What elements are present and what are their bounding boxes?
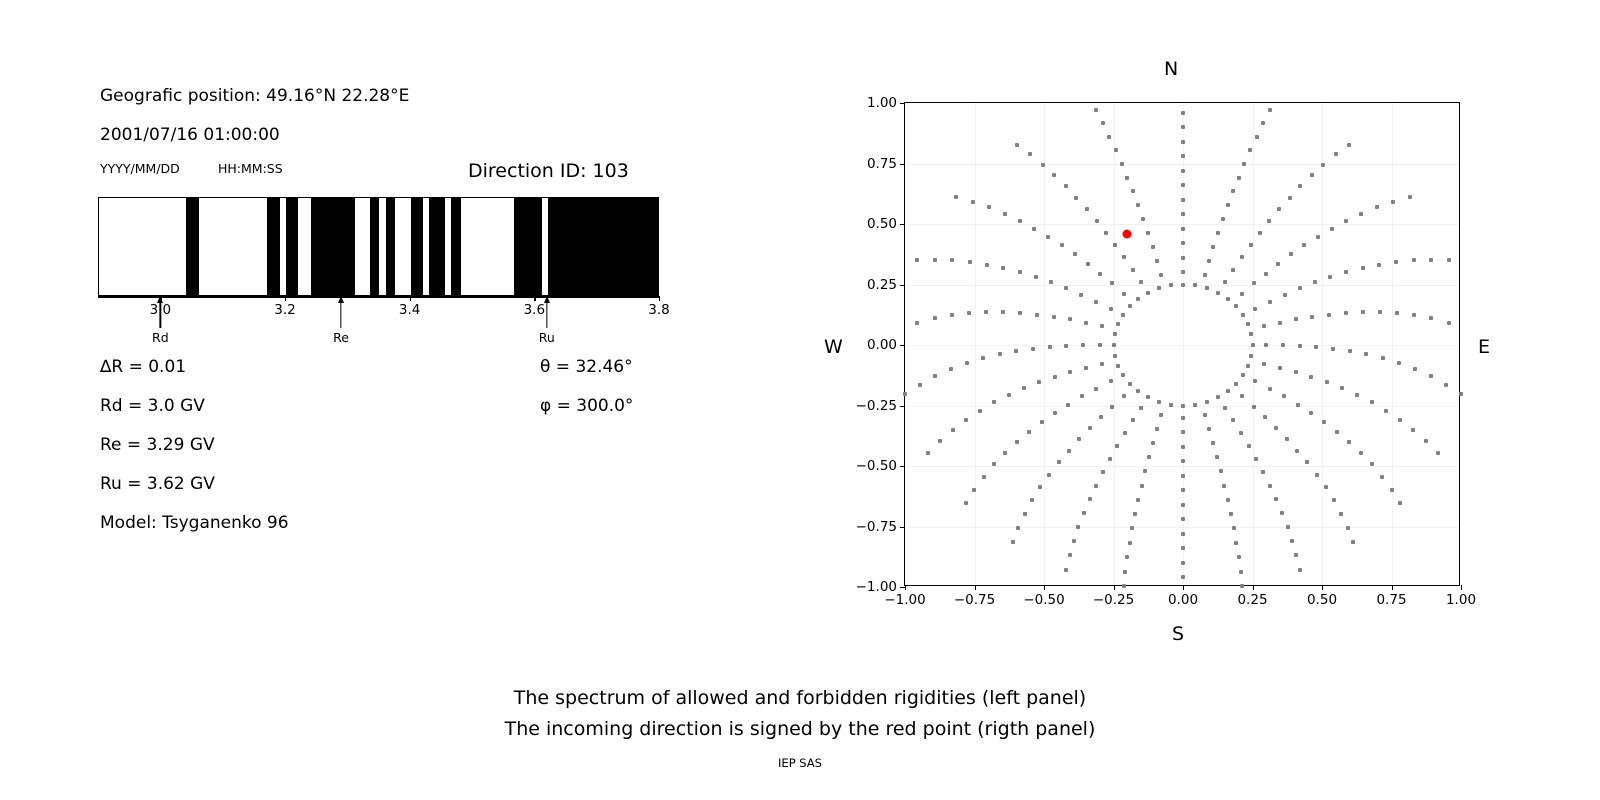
direction-dot (1252, 281, 1256, 285)
direction-dot (1355, 393, 1359, 397)
direction-dot (981, 356, 985, 360)
direction-dot (1181, 430, 1185, 434)
direction-dot (1205, 286, 1209, 290)
direction-dot (918, 383, 922, 387)
direction-dot (1181, 169, 1185, 173)
direction-dot (1261, 121, 1265, 125)
direction-dot (1278, 321, 1282, 325)
direction-dot (1181, 256, 1185, 260)
direction-dot (1216, 395, 1220, 399)
direction-dot (1203, 413, 1207, 417)
direction-dot (978, 409, 982, 413)
polar-x-tick (1461, 585, 1462, 590)
direction-dot (1344, 219, 1348, 223)
direction-dot (1003, 212, 1007, 216)
direction-dot (1261, 470, 1265, 474)
polar-x-tick-label: 0.25 (1237, 592, 1267, 608)
direction-dot (915, 258, 919, 262)
direction-dot (1181, 183, 1185, 187)
direction-dot (1116, 364, 1120, 368)
direction-dot (1412, 258, 1416, 262)
direction-dot (972, 488, 976, 492)
direction-dot (1088, 497, 1092, 501)
direction-dot (1322, 420, 1326, 424)
direction-dot (1226, 498, 1230, 502)
direction-dot (1181, 474, 1185, 478)
geographic-position-label: Geografic position: 49.16°N 22.28°E (100, 86, 409, 106)
polar-x-tick-label: −0.25 (1093, 592, 1134, 608)
direction-dot (1262, 324, 1266, 328)
direction-dot (1169, 403, 1173, 407)
direction-dot (1016, 526, 1020, 530)
direction-dot (1151, 245, 1155, 249)
annotation-arrow-head-icon (338, 296, 344, 303)
direction-dot (1064, 344, 1068, 348)
direction-dot (1128, 382, 1132, 386)
direction-dot (1052, 315, 1056, 319)
direction-dot (1086, 262, 1090, 266)
direction-dot (1120, 162, 1124, 166)
spectrum-x-axis: 3.03.23.43.63.8RdReRu (98, 296, 659, 298)
direction-dot (1123, 431, 1127, 435)
direction-dot (1377, 263, 1381, 267)
direction-dot (1181, 241, 1185, 245)
gridline-horizontal (905, 224, 1459, 225)
direction-dot (1298, 286, 1302, 290)
direction-dot (1104, 231, 1108, 235)
direction-dot (1072, 539, 1076, 543)
direction-dot (1001, 266, 1005, 270)
direction-dot (1046, 235, 1050, 239)
gridline-vertical (1322, 103, 1323, 585)
direction-dot (1253, 379, 1257, 383)
direction-dot (1128, 541, 1132, 545)
direction-dot (1125, 176, 1129, 180)
direction-dot (1359, 451, 1363, 455)
direction-dot (1181, 416, 1185, 420)
direction-dot (1340, 386, 1344, 390)
direction-dot (1122, 255, 1126, 259)
direction-dot (1394, 260, 1398, 264)
direction-dot (1094, 387, 1098, 391)
direction-dot (1330, 227, 1334, 231)
direction-dot (1211, 245, 1215, 249)
direction-dot (1052, 173, 1056, 177)
direction-dot (1181, 532, 1185, 536)
direction-dot (1239, 431, 1243, 435)
direction-dot (1048, 345, 1052, 349)
direction-dot (1181, 283, 1185, 287)
direction-dot (1398, 501, 1402, 505)
direction-dot (1088, 426, 1092, 430)
direction-dot (1216, 291, 1220, 295)
direction-dot (1232, 526, 1236, 530)
direction-dot (1113, 332, 1117, 336)
direction-dot (1100, 324, 1104, 328)
param-rd: Rd = 3.0 GV (100, 396, 205, 416)
direction-dot (1327, 313, 1331, 317)
spectrum-x-tick (659, 296, 660, 301)
polar-y-tick-label: −0.25 (856, 398, 897, 414)
direction-dot (1064, 568, 1068, 572)
direction-dot (1309, 375, 1313, 379)
direction-dot (1309, 411, 1313, 415)
polar-x-tick-label: −1.00 (884, 592, 925, 608)
direction-dot (1181, 445, 1185, 449)
direction-dot (1181, 561, 1185, 565)
direction-dot (1121, 373, 1125, 377)
direction-dot (1268, 300, 1272, 304)
gridline-vertical (1183, 103, 1184, 585)
direction-dot (1459, 392, 1463, 396)
direction-dot (1130, 526, 1134, 530)
direction-dot (1223, 406, 1227, 410)
direction-dot (1346, 526, 1350, 530)
direction-dot (1157, 400, 1161, 404)
direction-dot (982, 475, 986, 479)
direction-dot (1094, 300, 1098, 304)
polar-y-tick-label: 0.50 (867, 216, 897, 232)
direction-dot (951, 428, 955, 432)
direction-dot (1344, 270, 1348, 274)
direction-dot (992, 462, 996, 466)
direction-dot (1411, 428, 1415, 432)
direction-dot (1155, 427, 1159, 431)
direction-dot (1121, 313, 1125, 317)
direction-dot (1234, 541, 1238, 545)
direction-dot (1370, 400, 1374, 404)
polar-y-tick (900, 345, 905, 346)
direction-dot (1099, 415, 1103, 419)
direction-dot (933, 258, 937, 262)
direction-dot (1331, 347, 1335, 351)
incoming-direction-marker (1123, 229, 1132, 238)
direction-dot (1094, 484, 1098, 488)
direction-dot (1390, 488, 1394, 492)
direction-dot (1207, 427, 1211, 431)
direction-dot (1262, 362, 1266, 366)
direction-dot (1234, 382, 1238, 386)
direction-dot (1015, 440, 1019, 444)
direction-dot (1339, 512, 1343, 516)
direction-dot (1314, 345, 1318, 349)
direction-dot (1094, 108, 1098, 112)
param-ru: Ru = 3.62 GV (100, 474, 215, 494)
direction-dot (1113, 243, 1117, 247)
direction-dot (1131, 189, 1135, 193)
direction-dot (1364, 352, 1368, 356)
direction-dot (1205, 400, 1209, 404)
direction-dot (1022, 386, 1026, 390)
direction-dot (1381, 356, 1385, 360)
direction-dot (984, 310, 988, 314)
direction-dot (1247, 444, 1251, 448)
direction-dot (1211, 441, 1215, 445)
polar-x-tick (1044, 585, 1045, 590)
direction-dot (1240, 584, 1244, 588)
direction-dot (1280, 511, 1284, 515)
direction-dot (1128, 304, 1132, 308)
direction-dot (1351, 540, 1355, 544)
direction-dot (1413, 367, 1417, 371)
polar-y-tick (900, 103, 905, 104)
direction-dot (1060, 243, 1064, 247)
direction-dot (1125, 555, 1129, 559)
direction-dot (950, 258, 954, 262)
direction-dot (1116, 322, 1120, 326)
direction-dot (1240, 394, 1244, 398)
direction-dot (926, 451, 930, 455)
spectrum-x-tick (534, 296, 535, 301)
direction-dot (1334, 152, 1338, 156)
direction-dot (1268, 387, 1272, 391)
direction-dot (1014, 349, 1018, 353)
date-format-hint: YYYY/MM/DD (100, 161, 180, 176)
direction-dot (971, 200, 975, 204)
direction-dot (1109, 307, 1113, 311)
direction-dot (1288, 196, 1292, 200)
direction-dot (1018, 219, 1022, 223)
direction-dot (1112, 343, 1116, 347)
direction-dot (1252, 405, 1256, 409)
direction-dot (1101, 121, 1105, 125)
direction-dot (933, 374, 937, 378)
caption-line-2: The incoming direction is signed by the … (0, 718, 1600, 740)
direction-dot (1412, 313, 1416, 317)
direction-dot (1391, 200, 1395, 204)
direction-dot (1264, 343, 1268, 347)
direction-dot (1294, 317, 1298, 321)
direction-dot (1397, 361, 1401, 365)
polar-x-tick (1392, 585, 1393, 590)
forbidden-band (370, 198, 379, 295)
gridline-horizontal (905, 466, 1459, 467)
direction-dot (1226, 203, 1230, 207)
direction-dot (1268, 484, 1272, 488)
caption-line-1: The spectrum of allowed and forbidden ri… (0, 687, 1600, 709)
direction-dot (987, 205, 991, 209)
direction-dot (1286, 525, 1290, 529)
direction-dot (1122, 394, 1126, 398)
direction-dot (1384, 409, 1388, 413)
polar-x-tick-label: 1.00 (1446, 592, 1476, 608)
annotation-arrow-head-icon (544, 296, 550, 303)
direction-dot (949, 367, 953, 371)
direction-dot (1347, 440, 1351, 444)
direction-dot (1325, 380, 1329, 384)
direction-dot (1077, 437, 1081, 441)
direction-dot (1216, 231, 1220, 235)
direction-dot (1085, 207, 1089, 211)
direction-dot (998, 352, 1002, 356)
direction-dot (1007, 393, 1011, 397)
param-phi: φ = 300.0° (540, 396, 633, 416)
direction-dot (1378, 310, 1382, 314)
direction-dot (964, 418, 968, 422)
polar-x-tick-label: 0.75 (1376, 592, 1406, 608)
direction-dot (1053, 375, 1057, 379)
polar-y-tick-label: −0.50 (856, 458, 897, 474)
direction-dot (1294, 553, 1298, 557)
direction-dot (1267, 219, 1271, 223)
direction-dot (1068, 370, 1072, 374)
direction-dot (1193, 403, 1197, 407)
compass-label-east: E (1478, 336, 1490, 358)
direction-dot (1159, 413, 1163, 417)
direction-dot (1079, 293, 1083, 297)
direction-dot (1316, 235, 1320, 239)
direction-dot (1278, 366, 1282, 370)
gridline-horizontal (905, 345, 1459, 346)
direction-dot (1281, 343, 1285, 347)
direction-dot (1113, 354, 1117, 358)
direction-dot (1231, 418, 1235, 422)
param-re: Re = 3.29 GV (100, 435, 215, 455)
direction-dot (1268, 108, 1272, 112)
incoming-direction-panel: −1.00−0.75−0.50−0.250.000.250.500.751.00… (904, 102, 1460, 586)
gridline-horizontal (905, 527, 1459, 528)
direction-dot (1181, 503, 1185, 507)
direction-dot (1100, 362, 1104, 366)
direction-dot (1302, 243, 1306, 247)
direction-dot (1157, 286, 1161, 290)
direction-dot (1249, 243, 1253, 247)
direction-dot (1181, 125, 1185, 129)
direction-dot (1223, 280, 1227, 284)
direction-dot (1255, 135, 1259, 139)
direction-dot (1181, 270, 1185, 274)
direction-dot (1110, 405, 1114, 409)
direction-dot (1136, 203, 1140, 207)
annotation-label: Ru (539, 330, 555, 345)
direction-dot (1359, 212, 1363, 216)
direction-dot (1098, 272, 1102, 276)
direction-dot (1237, 176, 1241, 180)
direction-dot (1347, 143, 1351, 147)
direction-dot (1034, 275, 1038, 279)
direction-dot (1181, 140, 1185, 144)
direction-dot (1098, 343, 1102, 347)
direction-dot (1447, 321, 1451, 325)
direction-dot (1136, 297, 1140, 301)
spectrum-x-tick-label: 3.8 (648, 302, 669, 318)
direction-dot (1146, 395, 1150, 399)
polar-plot-axes: −1.00−0.75−0.50−0.250.000.250.500.751.00… (904, 102, 1460, 586)
direction-dot (1310, 315, 1314, 319)
direction-dot (1136, 389, 1140, 393)
direction-dot (1222, 484, 1226, 488)
polar-y-tick (900, 285, 905, 286)
param-theta: θ = 32.46° (540, 357, 633, 377)
spectrum-bar-wrapper (98, 197, 659, 296)
rigidity-spectrum-bar (98, 197, 659, 296)
direction-dot (1263, 415, 1267, 419)
direction-dot (1181, 488, 1185, 492)
direction-dot (1231, 189, 1235, 193)
direction-dot (1037, 380, 1041, 384)
direction-dot (1344, 311, 1348, 315)
direction-dot (1249, 354, 1253, 358)
spectrum-x-tick-label: 3.2 (274, 302, 295, 318)
spectrum-x-tick (285, 296, 286, 301)
direction-dot (1031, 347, 1035, 351)
direction-dot (1429, 258, 1433, 262)
param-model: Model: Tsyganenko 96 (100, 513, 289, 533)
annotation-label: Rd (152, 330, 169, 345)
forbidden-band (311, 198, 355, 295)
direction-dot (1239, 570, 1243, 574)
direction-dot (1264, 272, 1268, 276)
direction-dot (1018, 270, 1022, 274)
direction-dot (1122, 584, 1126, 588)
direction-dot (1424, 439, 1428, 443)
polar-x-tick-label: 0.00 (1168, 592, 1198, 608)
direction-dot (1110, 281, 1114, 285)
direction-dot (985, 263, 989, 267)
direction-dot (950, 313, 954, 317)
direction-dot (1146, 291, 1150, 295)
direction-dot (1296, 403, 1300, 407)
direction-dot (1221, 217, 1225, 221)
direction-dot (1181, 575, 1185, 579)
direction-dot (1398, 418, 1402, 422)
polar-x-tick-label: −0.50 (1023, 592, 1064, 608)
polar-x-tick (1322, 585, 1323, 590)
direction-dot (1181, 404, 1185, 408)
direction-dot (967, 311, 971, 315)
polar-y-tick (900, 527, 905, 528)
direction-dot (1231, 268, 1235, 272)
direction-dot (1146, 231, 1150, 235)
direction-dot (1290, 539, 1294, 543)
polar-x-tick-label: −0.75 (954, 592, 995, 608)
direction-dot (1361, 266, 1365, 270)
direction-dot (1298, 344, 1302, 348)
rigidity-spectrum-panel: Geografic position: 49.16°N 22.28°E 2001… (0, 0, 800, 680)
direction-dot (1335, 430, 1339, 434)
direction-dot (1181, 459, 1185, 463)
direction-dot (1295, 449, 1299, 453)
polar-y-tick (900, 164, 905, 165)
direction-dot (1143, 469, 1147, 473)
polar-x-tick-label: 0.50 (1307, 592, 1337, 608)
direction-dot (1115, 444, 1119, 448)
annotation-label: Re (333, 330, 349, 345)
datetime-label: 2001/07/16 01:00:00 (100, 125, 280, 145)
polar-x-tick (1253, 585, 1254, 590)
polar-y-tick (900, 224, 905, 225)
direction-dot (1067, 449, 1071, 453)
direction-dot (1305, 460, 1309, 464)
direction-dot (1131, 418, 1135, 422)
direction-dot (1107, 135, 1111, 139)
direction-dot (954, 195, 958, 199)
polar-x-tick (975, 585, 976, 590)
polar-y-tick (900, 466, 905, 467)
direction-dot (1147, 455, 1151, 459)
spectrum-x-tick (410, 296, 411, 301)
direction-dot (1038, 485, 1042, 489)
direction-dot (1080, 394, 1084, 398)
direction-dot (1276, 262, 1280, 266)
direction-dot (1068, 553, 1072, 557)
direction-dot (1240, 292, 1244, 296)
direction-dot (1246, 364, 1250, 368)
direction-dot (992, 400, 996, 404)
direction-dot (1234, 304, 1238, 308)
direction-dot (1064, 184, 1068, 188)
polar-y-tick-label: 1.00 (867, 95, 897, 111)
